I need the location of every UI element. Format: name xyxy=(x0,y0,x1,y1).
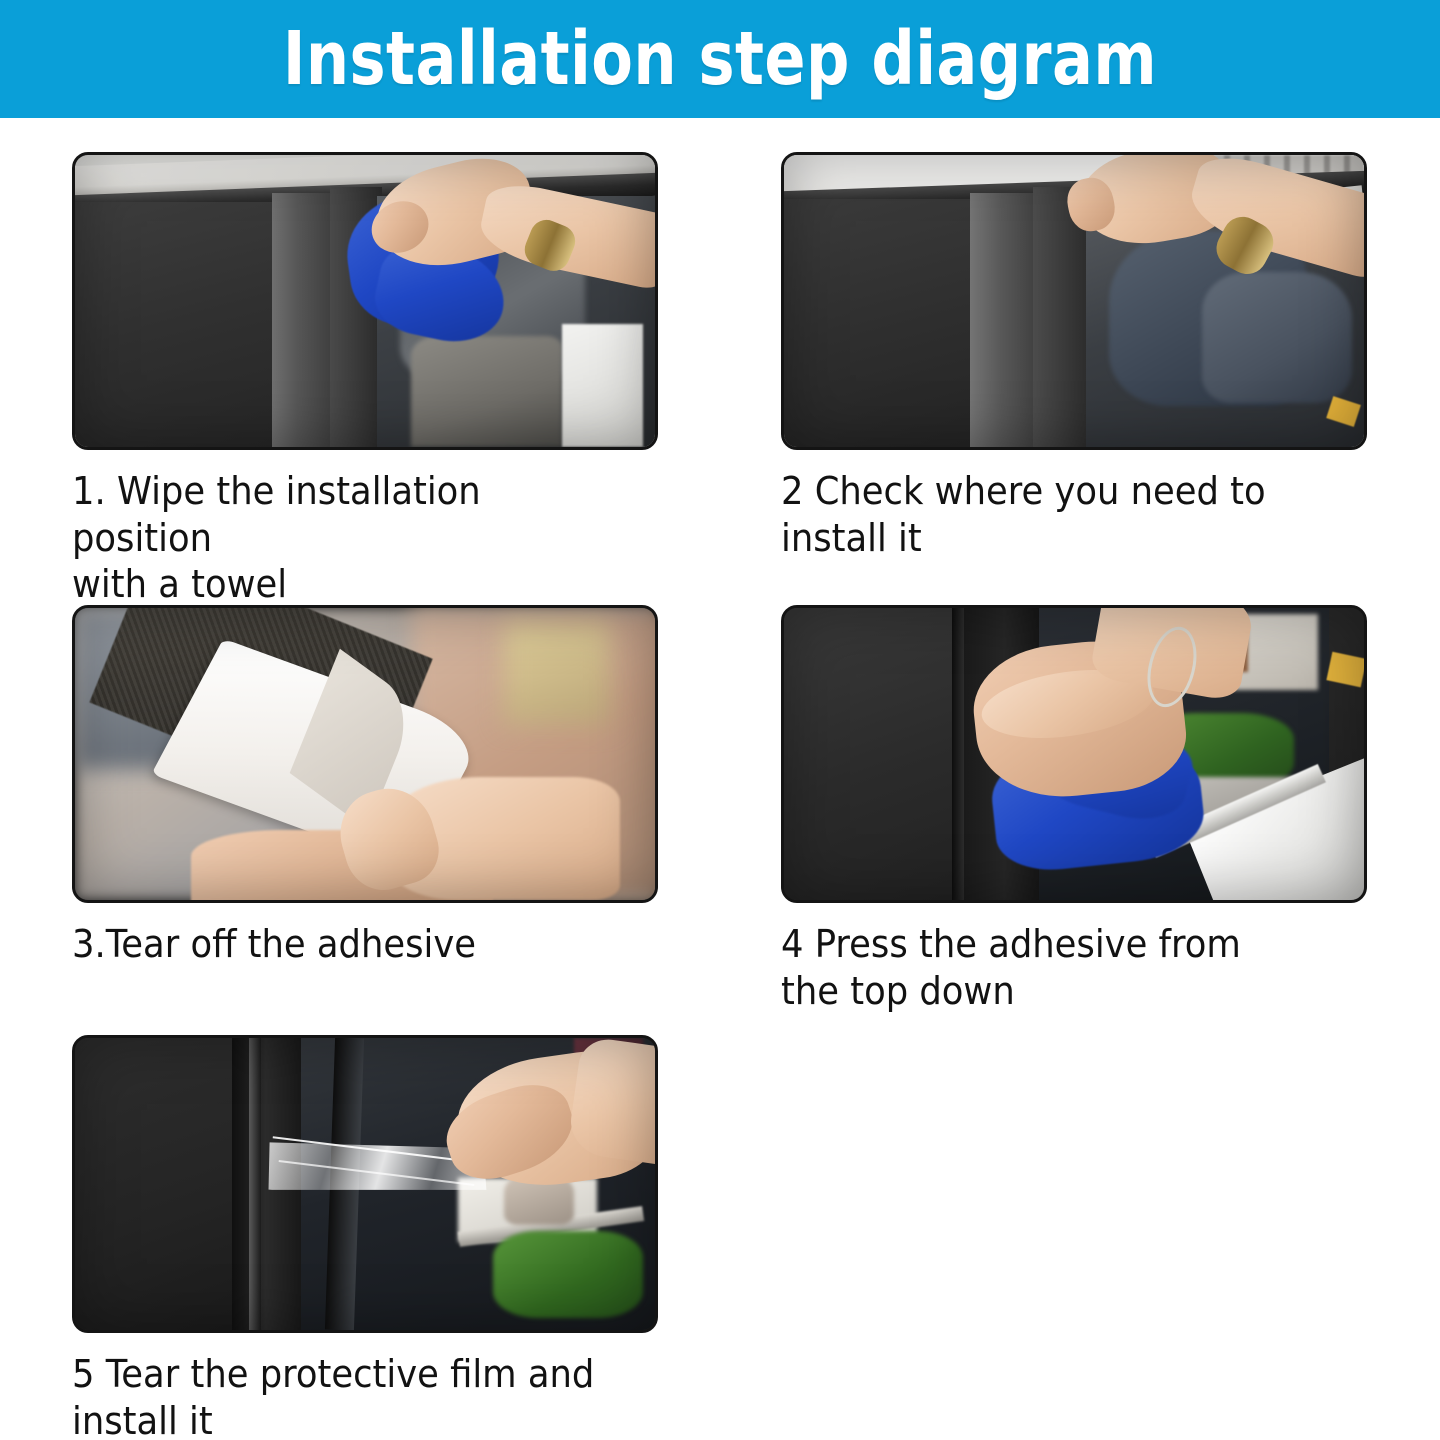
photo-vignette xyxy=(75,155,655,447)
photo-vignette xyxy=(784,155,1364,447)
photo-vignette xyxy=(75,1038,655,1330)
step-2-photo xyxy=(781,152,1367,450)
photo-vignette xyxy=(75,608,655,900)
step-card-4: 4 Press the adhesive from the top down xyxy=(781,605,1367,1014)
step-5-photo xyxy=(72,1035,658,1333)
step-4-photo xyxy=(781,605,1367,903)
step-1-caption: 1. Wipe the installation position with a… xyxy=(72,468,617,608)
header-banner: Installation step diagram xyxy=(0,0,1440,118)
step-4-caption: 4 Press the adhesive from the top down xyxy=(781,921,1326,1014)
step-card-1: 1. Wipe the installation position with a… xyxy=(72,152,658,608)
step-1-photo xyxy=(72,152,658,450)
step-3-photo xyxy=(72,605,658,903)
step-3-caption: 3.Tear off the adhesive xyxy=(72,921,617,968)
step-5-caption: 5 Tear the protective film and install i… xyxy=(72,1351,617,1440)
page-title: Installation step diagram xyxy=(283,22,1157,96)
step-2-caption: 2 Check where you need to install it xyxy=(781,468,1326,561)
step-card-3: 3.Tear off the adhesive xyxy=(72,605,658,968)
step-card-5: 5 Tear the protective film and install i… xyxy=(72,1035,658,1440)
step-card-2: 2 Check where you need to install it xyxy=(781,152,1367,561)
installation-step-diagram-page: Installation step diagram xyxy=(0,0,1440,1440)
photo-vignette xyxy=(784,608,1364,900)
